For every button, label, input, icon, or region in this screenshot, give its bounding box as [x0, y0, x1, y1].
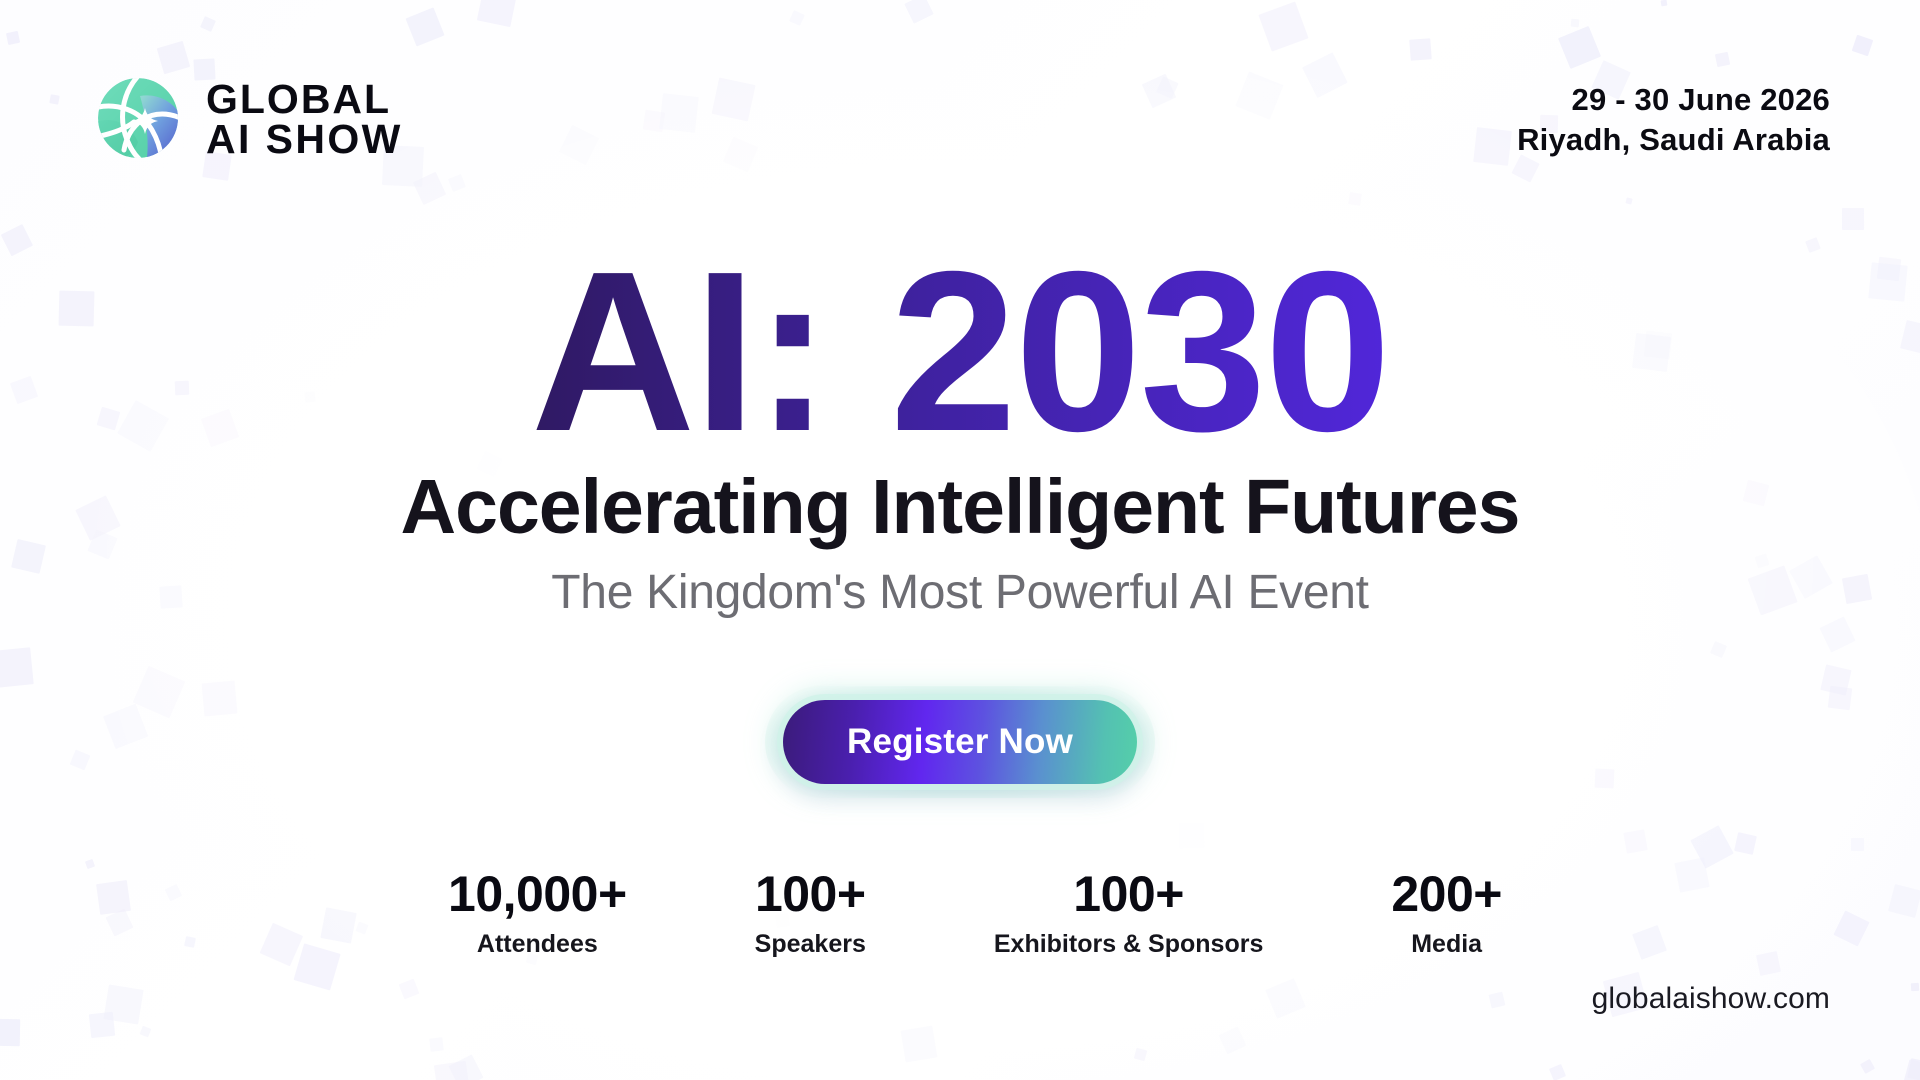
event-location: Riyadh, Saudi Arabia — [1517, 120, 1830, 160]
stat-label: Exhibitors & Sponsors — [994, 931, 1263, 959]
stat-value: 100+ — [994, 868, 1263, 921]
stat-label: Speakers — [755, 931, 866, 959]
wordmark-line-2: AI SHOW — [206, 119, 403, 159]
stat-value: 200+ — [1391, 868, 1502, 921]
stat-label: Attendees — [448, 931, 627, 959]
stat-item: 200+ Media — [1391, 868, 1502, 958]
hero-tagline: Accelerating Intelligent Futures — [0, 468, 1920, 547]
cta-section: Register Now — [0, 686, 1920, 798]
stats-row: 10,000+ Attendees 100+ Speakers 100+ Exh… — [0, 868, 1920, 958]
globe-segments-icon — [88, 68, 188, 168]
hero-headline: AI: 2030 — [0, 248, 1920, 458]
stat-item: 10,000+ Attendees — [448, 868, 627, 958]
hero-subtagline: The Kingdom's Most Powerful AI Event — [0, 568, 1920, 618]
register-now-button[interactable]: Register Now — [783, 700, 1137, 784]
event-dates: 29 - 30 June 2026 — [1517, 80, 1830, 120]
stat-value: 100+ — [755, 868, 866, 921]
promo-banner: GLOBAL AI SHOW 29 - 30 June 2026 Riyadh,… — [0, 0, 1920, 1080]
wordmark-line-1: GLOBAL — [206, 79, 403, 119]
cta-glow: Register Now — [765, 686, 1155, 798]
event-details: 29 - 30 June 2026 Riyadh, Saudi Arabia — [1517, 80, 1830, 159]
stat-item: 100+ Speakers — [755, 868, 866, 958]
stat-label: Media — [1391, 931, 1502, 959]
brand-wordmark: GLOBAL AI SHOW — [206, 77, 403, 159]
website-url[interactable]: globalaishow.com — [1592, 982, 1830, 1016]
stat-value: 10,000+ — [448, 868, 627, 921]
hero-section: AI: 2030 Accelerating Intelligent Future… — [0, 248, 1920, 619]
stat-item: 100+ Exhibitors & Sponsors — [994, 868, 1263, 958]
brand-logo[interactable]: GLOBAL AI SHOW — [88, 68, 403, 168]
